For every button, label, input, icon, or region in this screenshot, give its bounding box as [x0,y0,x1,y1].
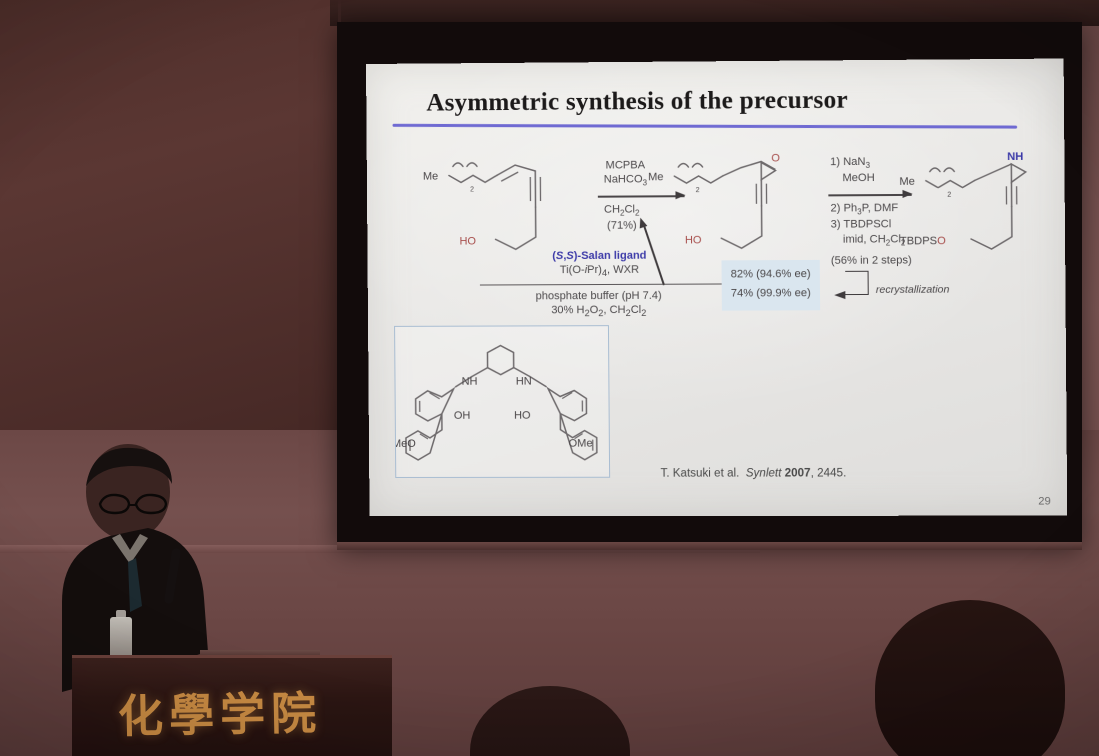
label-ho: HO [685,234,702,246]
reagents-step-2-top: 1) NaN3 MeOH [830,155,875,186]
slide-title: Asymmetric synthesis of the precursor [426,85,1023,117]
label-me: Me [423,171,438,183]
recrystallization-label: recrystallization [876,284,950,296]
ligand-structure-box: NH HN OH MeO HO OMe [394,325,610,478]
label-meo: MeO [395,438,416,450]
title-underline [392,124,1017,129]
citation-year: 2007 [785,467,811,479]
projection-screen: Asymmetric synthesis of the precursor Me… [337,22,1082,544]
label-ome: OMe [569,438,593,450]
buffer-label: phosphate buffer (pH 7.4) [468,288,730,303]
label-hn: HN [516,376,532,388]
label-tbdpso: TBDPSO [900,235,947,247]
label-ho: HO [459,235,476,247]
yield-line-1: 82% (94.6% ee) [731,265,811,285]
citation-authors: T. Katsuki et al. [660,468,739,480]
slide-number: 29 [1038,495,1051,507]
structure-aziridine: Me 2 NH TBDPSO [899,150,1063,267]
presentation-slide: Asymmetric synthesis of the precursor Me… [366,59,1067,516]
label-nh: NH [462,376,478,388]
label-nh: NH [1007,151,1023,163]
recrystallization-arrow [845,271,869,295]
podium-sign: 化學学院 [117,676,368,745]
solvent-dcm: CH2Cl2 [604,202,640,219]
solvent-step-1: CH2Cl2 (71%) [604,202,640,233]
lecture-photo: Asymmetric synthesis of the precursor Me… [0,0,1099,756]
epoxidation-conditions: (S,S)-Salan ligand Ti(O-iPr)4, WXR [484,248,716,281]
reagent-meoh: MeOH [830,171,875,185]
yield-line-2: 74% (99.9% ee) [731,284,811,304]
wall-left [0,0,348,462]
label-me: Me [648,171,664,183]
label-oh: OH [454,410,471,422]
reagent-nahco3: NaHCO3 [604,172,647,189]
chain-subscript: 2 [696,187,700,194]
reagents-step-1: MCPBA NaHCO3 [604,158,648,189]
conditions-rule [480,283,725,285]
yield-box: 82% (94.6% ee) 74% (99.9% ee) [721,260,820,310]
chain-subscript: 2 [470,186,474,193]
metal-catalyst: Ti(O-iPr)4, WXR [484,263,716,281]
reagent-mcpba: MCPBA [604,158,647,172]
label-ho: HO [514,410,531,422]
citation: T. Katsuki et al. Synlett 2007, 2445. [660,467,846,479]
ligand-label: (S,S)-Salan ligand [484,248,716,263]
oxidant-label: 30% H2O2, CH2Cl2 [468,303,730,321]
label-me: Me [899,176,915,188]
citation-page: , 2445. [811,467,847,479]
citation-journal: Synlett [746,467,782,479]
yield-step-1: (71%) [604,219,640,233]
chain-subscript: 2 [947,192,951,199]
epoxidation-solvent: phosphate buffer (pH 7.4) 30% H2O2, CH2C… [468,288,730,321]
label-epoxide-o: O [771,152,780,164]
reagent-nan3: 1) NaN3 [830,155,875,172]
